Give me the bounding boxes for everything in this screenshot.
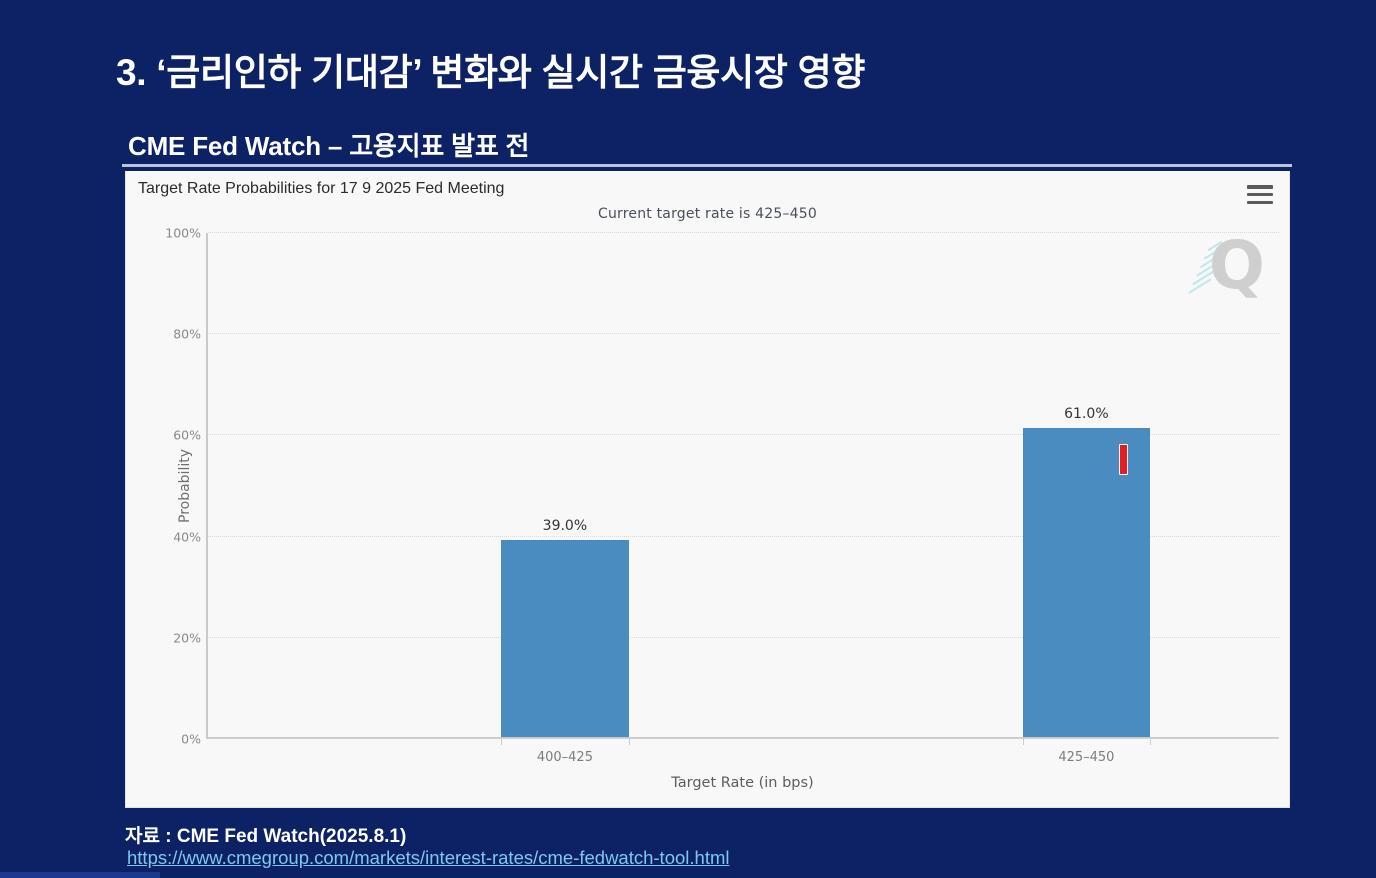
chart-panel: Target Rate Probabilities for 17 9 2025 …	[125, 171, 1290, 808]
hamburger-menu-icon[interactable]	[1247, 185, 1273, 204]
y-axis-line	[206, 233, 208, 739]
hamburger-bar-3	[1247, 201, 1273, 205]
gridline: 80%	[208, 333, 1279, 334]
y-axis-title: Probability	[177, 449, 193, 523]
chart-subtitle: Current target rate is 425–450	[126, 206, 1289, 222]
source-url-link[interactable]: https://www.cmegroup.com/markets/interes…	[127, 847, 729, 869]
source-label: 자료 : CME Fed Watch(2025.8.1)	[125, 821, 406, 848]
x-axis-title: Target Rate (in bps)	[206, 775, 1279, 791]
x-tick-mark	[1023, 739, 1024, 745]
y-tick-label: 100%	[165, 226, 201, 241]
bottom-cut-off-text	[0, 872, 160, 878]
chart-title: Target Rate Probabilities for 17 9 2025 …	[138, 180, 504, 198]
plot-area: Probability 0% 20% 40% 60% 80% 100% 39.0…	[206, 233, 1279, 739]
bar-value-label: 39.0%	[543, 518, 587, 534]
x-tick-mark	[1150, 739, 1151, 745]
hamburger-bar-1	[1247, 185, 1273, 189]
bar-400-425[interactable]	[501, 540, 629, 737]
gridline: 100%	[208, 232, 1279, 233]
y-tick-label: 0%	[181, 732, 201, 747]
hamburger-bar-2	[1247, 193, 1273, 197]
bar-value-label: 61.0%	[1064, 406, 1108, 422]
y-tick-label: 40%	[173, 529, 201, 544]
y-tick-label: 20%	[173, 630, 201, 645]
x-tick-mark	[501, 739, 502, 745]
x-tick-mark	[629, 739, 630, 745]
x-tick-label-400-425: 400–425	[537, 750, 593, 765]
gridline: 0%	[208, 738, 1279, 739]
x-tick-label-425-450: 425–450	[1058, 750, 1114, 765]
panel-top-divider	[122, 164, 1292, 167]
y-tick-label: 60%	[173, 428, 201, 443]
bar-425-450[interactable]	[1023, 428, 1151, 737]
page-title: 3. ‘금리인하 기대감’ 변화와 실시간 금융시장 영향	[116, 42, 865, 96]
y-tick-label: 80%	[173, 327, 201, 342]
text-cursor-marker	[1119, 444, 1128, 475]
slide-subtitle: CME Fed Watch – 고용지표 발표 전	[128, 126, 529, 163]
